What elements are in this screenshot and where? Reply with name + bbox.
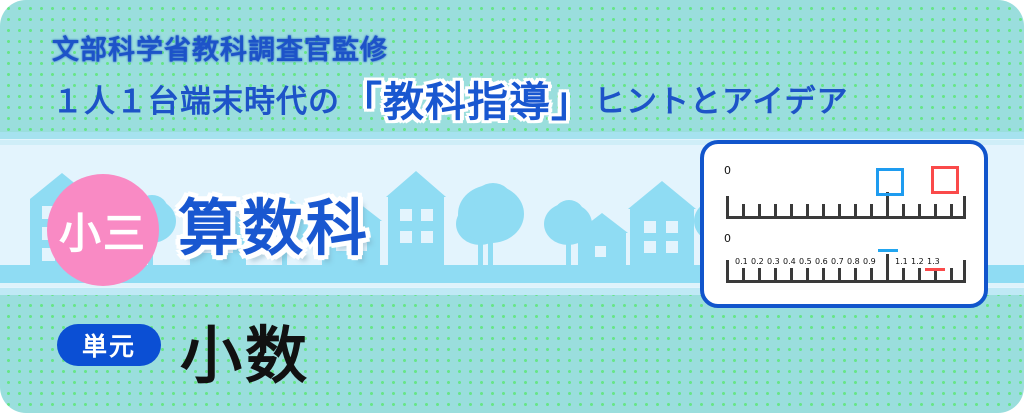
building-icon	[388, 197, 444, 265]
red-underline-at-one-point-three[interactable]	[925, 268, 945, 271]
tick-label: 0.4	[783, 257, 796, 266]
tick	[934, 204, 937, 218]
tick	[806, 204, 809, 218]
roof-icon	[576, 213, 628, 233]
tick	[822, 268, 825, 282]
blue-square-marker[interactable]	[876, 168, 904, 196]
tick-one	[886, 254, 889, 282]
number-line-card: 0 0	[700, 140, 988, 308]
grade-badge: 小三	[47, 174, 159, 286]
tick	[902, 268, 905, 282]
window-icon	[666, 221, 678, 233]
tick-major	[963, 260, 966, 282]
tick	[870, 268, 873, 282]
tick	[838, 204, 841, 218]
tick-label: 0.2	[751, 257, 764, 266]
banner-root: 文部科学省教科調査官監修 １人１台端末時代の 「教科指導」 ヒントとアイデア	[0, 0, 1024, 413]
tick-label: 0.9	[863, 257, 876, 266]
subtitle-prefix: １人１台端末時代の	[52, 76, 340, 121]
unit-badge-label: 単元	[82, 327, 136, 363]
window-icon	[644, 221, 656, 233]
tick	[918, 204, 921, 218]
tick-label: 1.2	[911, 257, 924, 266]
tick	[950, 268, 953, 282]
tick-major	[726, 196, 729, 218]
tree-icon	[474, 183, 512, 217]
subtitle-quoted: 「教科指導」	[341, 83, 593, 122]
window-icon	[400, 209, 412, 221]
subtitle-suffix: ヒントとアイデア	[594, 76, 848, 121]
tick	[822, 204, 825, 218]
tick-label: 0.8	[847, 257, 860, 266]
building-icon	[630, 209, 694, 265]
unit-badge: 単元	[57, 324, 161, 366]
zero-label-top: 0	[724, 164, 731, 177]
window-icon	[644, 241, 656, 253]
tick	[950, 204, 953, 218]
tick	[758, 204, 761, 218]
tick	[854, 204, 857, 218]
tick	[918, 268, 921, 282]
band-stripe-top-1	[0, 132, 1024, 139]
axis-top	[726, 216, 966, 219]
window-icon	[666, 241, 678, 253]
subject-title: 算数科	[178, 178, 370, 267]
tick	[790, 204, 793, 218]
window-icon	[421, 209, 433, 221]
tick-label: 0.5	[799, 257, 812, 266]
tick	[742, 268, 745, 282]
zero-label-bottom: 0	[724, 232, 731, 245]
tick	[774, 268, 777, 282]
supervision-text: 文部科学省教科調査官監修	[52, 28, 388, 67]
tick	[902, 204, 905, 218]
tick	[742, 204, 745, 218]
unit-title: 小数	[180, 305, 310, 395]
window-icon	[421, 231, 433, 243]
axis-bottom	[726, 280, 966, 283]
tick-label: 0.7	[831, 257, 844, 266]
blue-mark-at-one[interactable]	[878, 249, 898, 252]
tick-label: 0.1	[735, 257, 748, 266]
tick	[838, 268, 841, 282]
tick	[806, 268, 809, 282]
red-square-marker[interactable]	[931, 166, 959, 194]
tick-label: 0.3	[767, 257, 780, 266]
subtitle: １人１台端末時代の 「教科指導」 ヒントとアイデア	[52, 76, 848, 121]
tick	[854, 268, 857, 282]
tick	[774, 204, 777, 218]
tick	[790, 268, 793, 282]
roof-icon	[628, 181, 696, 209]
tick-major	[963, 196, 966, 218]
tick	[870, 204, 873, 218]
header: 文部科学省教科調査官監修 １人１台端末時代の 「教科指導」 ヒントとアイデア	[0, 0, 1024, 132]
tick-label: 1.1	[895, 257, 908, 266]
tick-label: 0.6	[815, 257, 828, 266]
tick	[758, 268, 761, 282]
tick-major	[726, 260, 729, 282]
grade-badge-label: 小三	[59, 200, 147, 261]
window-icon	[400, 231, 412, 243]
window-icon	[595, 246, 606, 257]
tick-label: 1.3	[927, 257, 940, 266]
roof-icon	[386, 171, 446, 197]
